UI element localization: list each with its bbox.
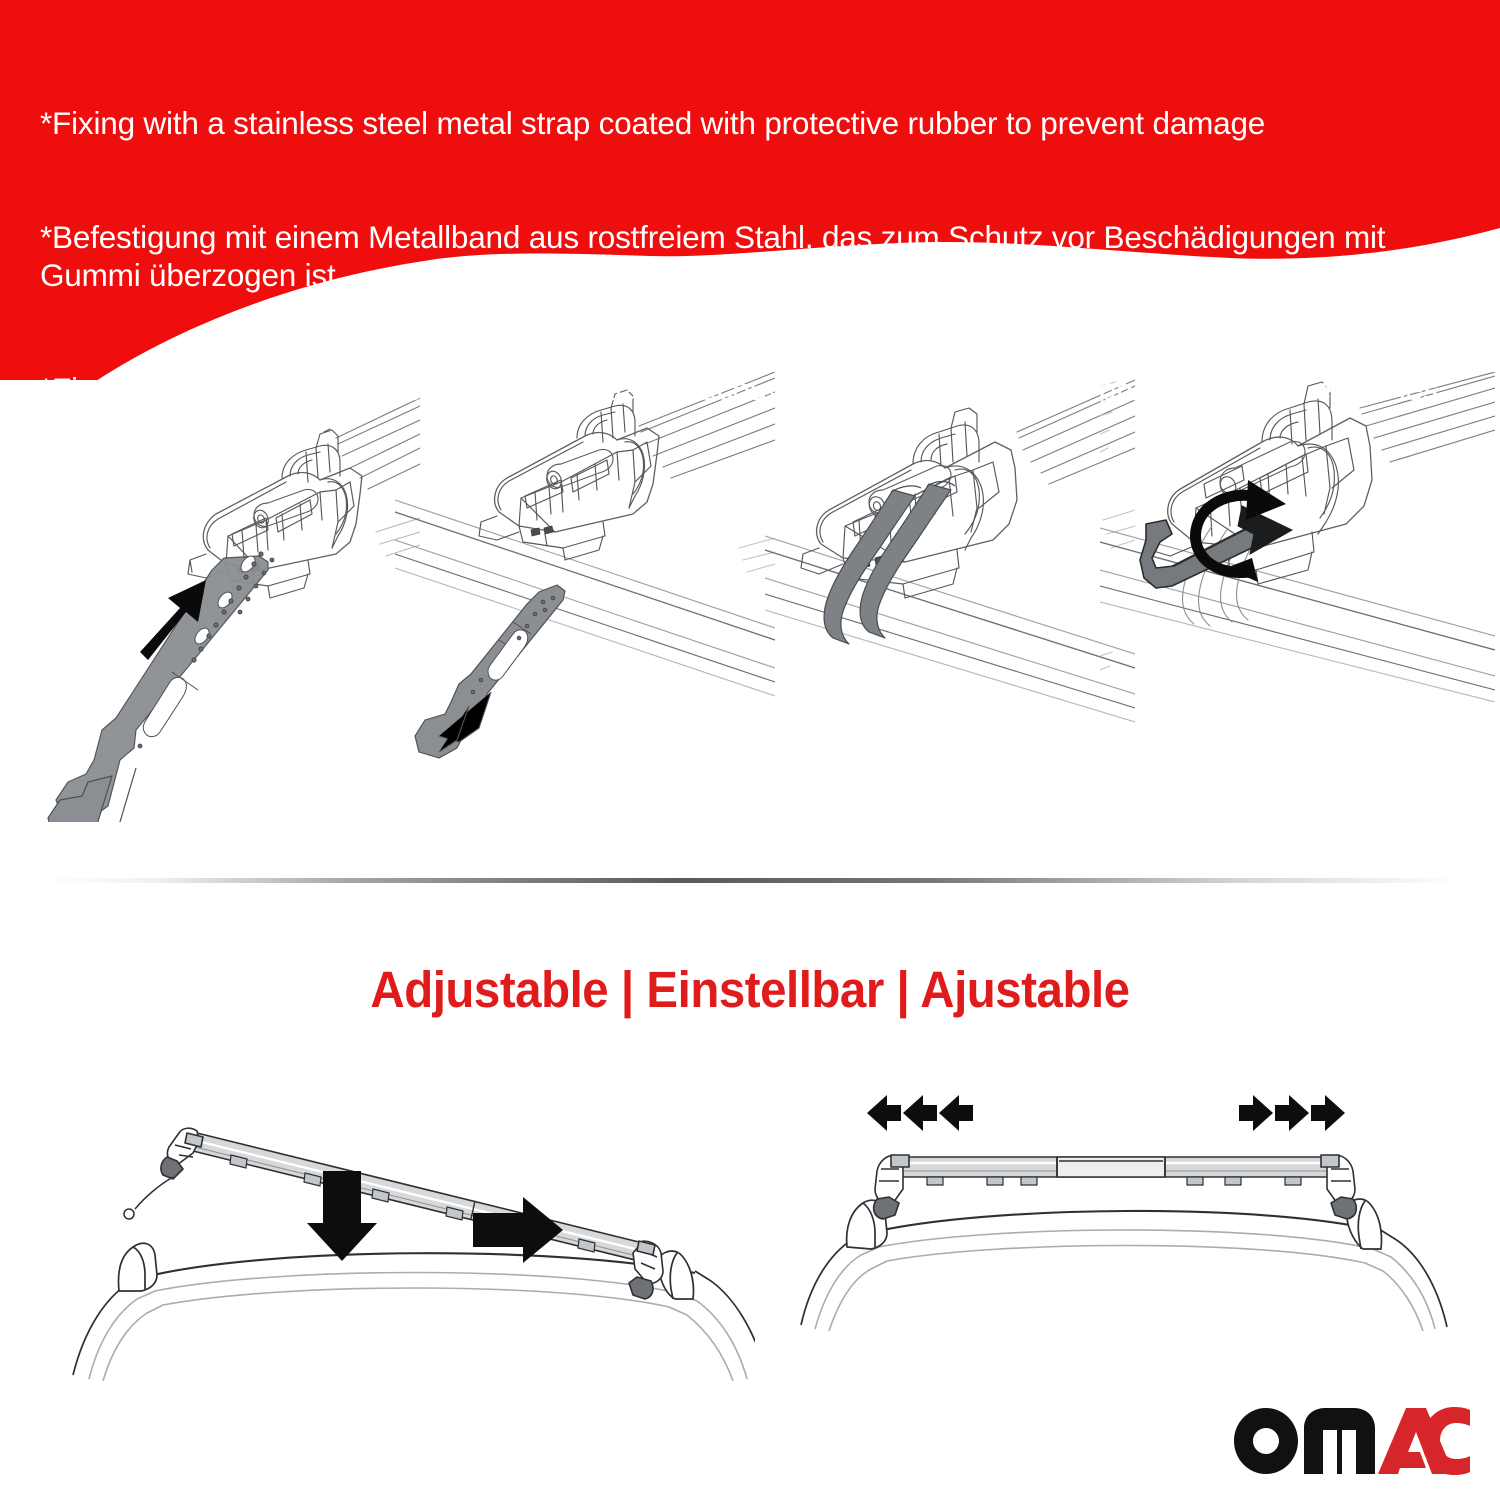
logo-letter-m [1304,1408,1375,1474]
banner-line-de: *Befestigung mit einem Metallband aus ro… [40,218,1460,294]
roof-rail-right [659,1251,694,1299]
arrows-triple-left [867,1095,973,1131]
banner-text-block: *Fixing with a stainless steel metal str… [40,28,1460,522]
roof-rail [765,536,1135,722]
banner-line-en: *Fixing with a stainless steel metal str… [40,104,1460,142]
roof-rail [1100,528,1495,702]
crossbar-horizontal [874,1155,1357,1219]
adjustable-diagrams [0,1085,1500,1415]
adjustable-heading: Adjustable | Einstellbar | Ajustable [53,960,1448,1019]
roof-rail [395,500,775,696]
metal-strap [48,552,274,822]
product-infographic: *Fixing with a stainless steel metal str… [0,0,1500,1500]
metal-strap [415,585,565,758]
omac-logo [1232,1406,1472,1476]
diagram-crossbar-width-adjust [795,1085,1455,1415]
diagram-crossbar-tilt-placement [55,1085,755,1415]
banner-line-fr: *Fixation avec une sangle en métal inoxy… [40,370,1460,446]
roof-rail-left [119,1243,157,1291]
logo-letter-o [1234,1408,1298,1474]
section-divider [40,878,1460,883]
arrows-triple-right [1239,1095,1345,1131]
